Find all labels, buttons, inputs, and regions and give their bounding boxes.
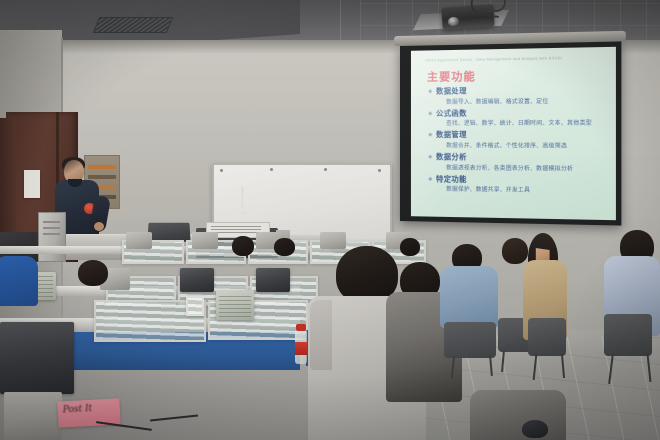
slide-section-detail: 数据合并、条件格式、个性化排序、高级筛选 xyxy=(429,141,609,150)
paper-line xyxy=(211,232,261,233)
slide-section: 数据管理 数据合并、条件格式、个性化排序、高级筛选 xyxy=(429,130,609,149)
slide-title: 主要功能 xyxy=(427,68,476,85)
monitor-rear xyxy=(320,232,346,249)
chair xyxy=(528,318,566,356)
tower-slot xyxy=(43,221,60,223)
attendee-shoulder xyxy=(310,300,332,370)
slide-section: 数据分析 数据透视表分析、各类图表分析、数据模拟分析 xyxy=(429,152,609,172)
panel-stripe xyxy=(88,165,116,169)
whiteboard-bolt xyxy=(220,169,223,172)
slide-bullet-list: 数据处理 数据导入、数据编辑、格式设置、定位 公式函数 查找、逻辑、数学、统计、… xyxy=(429,85,609,199)
computer-mouse xyxy=(522,420,548,438)
slide-section: 特定功能 数据保护、数据共享、开发工具 xyxy=(429,174,609,195)
whiteboard-bolt xyxy=(324,168,327,171)
presenter-laptop xyxy=(147,223,190,242)
panel-stripe xyxy=(88,175,116,179)
slide-surface: Office Application Series - Data Managem… xyxy=(411,47,616,220)
attendee-torso xyxy=(470,390,566,440)
attendee-torso xyxy=(440,266,498,328)
classroom-photo-scene: Office Application Series - Data Managem… xyxy=(0,0,660,440)
chair xyxy=(444,322,496,358)
lab-monitor xyxy=(0,322,74,394)
attendee-head xyxy=(78,260,108,286)
ceiling-vent xyxy=(93,17,173,33)
attendee-head xyxy=(400,238,420,256)
lab-monitor xyxy=(256,268,290,292)
lab-monitor xyxy=(216,290,254,320)
monitor-rear xyxy=(126,232,152,249)
whiteboard-bolt xyxy=(378,169,381,172)
slide-section-heading: 数据处理 xyxy=(429,85,609,97)
slide-section-heading: 公式函数 xyxy=(429,107,609,118)
slide-section: 公式函数 查找、逻辑、数学、统计、日期时间、文本、其他类型 xyxy=(429,107,609,127)
slide-section: 数据处理 数据导入、数据编辑、格式设置、定位 xyxy=(429,85,609,106)
attendee-torso xyxy=(0,256,38,306)
sticky-note-text: Post It xyxy=(63,404,93,416)
chair xyxy=(604,314,652,356)
whiteboard-markings xyxy=(242,187,360,213)
divider-paper-tag xyxy=(186,296,204,316)
presenter-hand xyxy=(94,222,104,231)
bottle-label xyxy=(295,342,307,355)
projection-screen: Office Application Series - Data Managem… xyxy=(400,41,621,225)
pc-tower xyxy=(38,212,66,262)
slide-header-text: Office Application Series - Data Managem… xyxy=(425,55,607,62)
slide-section-heading: 数据分析 xyxy=(429,152,609,163)
attendee-head xyxy=(274,238,295,256)
monitor-rear xyxy=(4,392,62,440)
paper-line xyxy=(211,226,261,227)
tower-slot xyxy=(43,233,60,235)
glasses-icon xyxy=(532,244,544,248)
slide-section-detail: 查找、逻辑、数学、统计、日期时间、文本、其他类型 xyxy=(429,118,609,127)
slide-section-detail: 数据透视表分析、各类图表分析、数据模拟分析 xyxy=(429,163,609,173)
lab-monitor xyxy=(180,268,214,292)
slide-section-detail: 数据导入、数据编辑、格式设置、定位 xyxy=(429,96,609,106)
bottle-cap xyxy=(296,324,306,331)
posted-paper xyxy=(24,170,40,198)
whiteboard-bolt xyxy=(270,168,273,171)
monitor-rear xyxy=(192,232,218,249)
tower-slot xyxy=(43,227,60,229)
paper-line xyxy=(211,229,261,230)
slide-section-detail: 数据保护、数据共享、开发工具 xyxy=(429,185,609,196)
slide-section-heading: 数据管理 xyxy=(429,130,609,140)
attendee-head xyxy=(232,236,254,256)
